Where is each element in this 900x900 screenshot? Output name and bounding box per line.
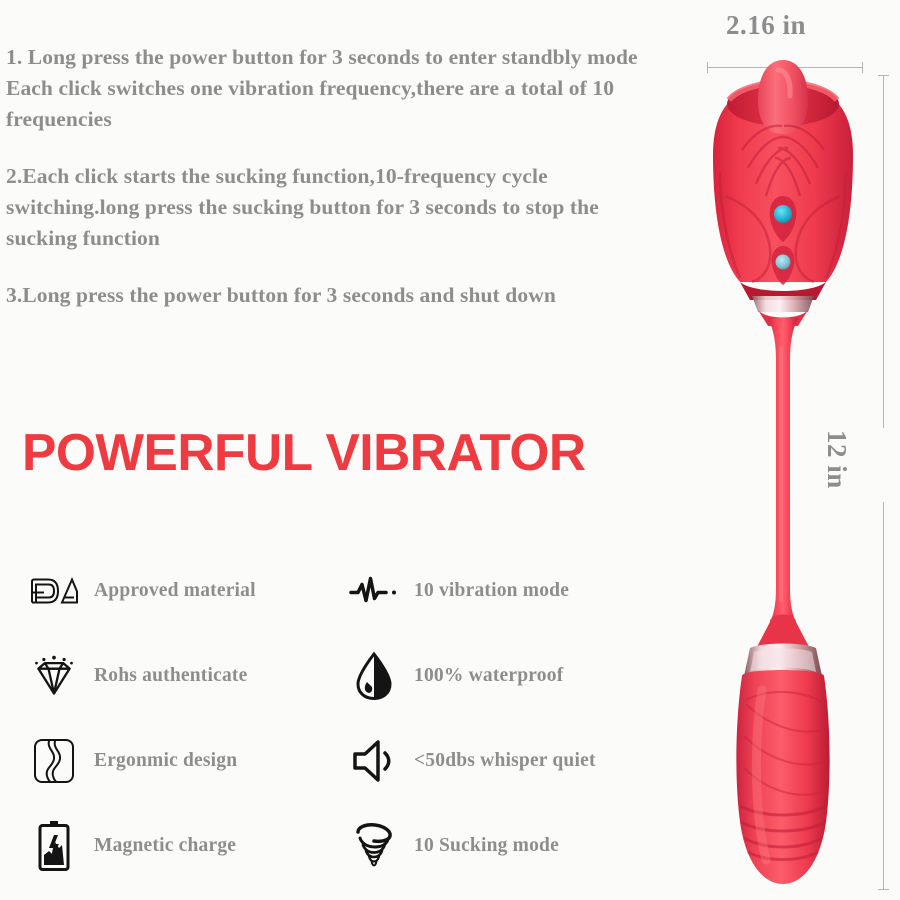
product-image bbox=[666, 0, 900, 900]
feature-item-whisper-quiet: <50dbs whisper quiet bbox=[348, 718, 648, 803]
caliper-tick-top bbox=[878, 75, 889, 76]
feature-label: 100% waterproof bbox=[414, 665, 563, 687]
infographic-canvas: 1. Long press the power button for 3 sec… bbox=[0, 0, 900, 900]
sucking-button bbox=[776, 255, 791, 270]
instruction-paragraph-1: 1. Long press the power button for 3 sec… bbox=[6, 42, 666, 135]
speaker-icon bbox=[348, 735, 400, 787]
instruction-paragraph-3: 3.Long press the power button for 3 seco… bbox=[6, 280, 666, 311]
feature-label: Magnetic charge bbox=[94, 835, 236, 857]
feature-item-sucking-mode: 10 Sucking mode bbox=[348, 803, 648, 888]
product-area: 2.16 in bbox=[666, 0, 900, 900]
feature-label: Ergonmic design bbox=[94, 750, 237, 772]
diamond-icon bbox=[28, 650, 80, 702]
headline-title: POWERFUL VIBRATOR bbox=[22, 424, 586, 482]
feature-item-ergonomic-design: Ergonmic design bbox=[28, 718, 328, 803]
feature-item-approved-material: Approved material bbox=[28, 548, 328, 633]
feature-item-vibration-mode: 10 vibration mode bbox=[348, 548, 648, 633]
power-button bbox=[774, 205, 792, 223]
bud-collar bbox=[752, 296, 814, 312]
waveform-icon bbox=[348, 565, 400, 617]
height-dimension-label: 12 in bbox=[821, 430, 852, 489]
feature-grid: Approved material 10 vibration mode bbox=[28, 548, 648, 888]
ergonomic-icon bbox=[28, 735, 80, 787]
feature-item-magnetic-charge: Magnetic charge bbox=[28, 803, 328, 888]
vortex-icon bbox=[348, 820, 400, 872]
instructions-block: 1. Long press the power button for 3 sec… bbox=[6, 42, 666, 311]
feature-label: Rohs authenticate bbox=[94, 665, 247, 687]
instruction-paragraph-2: 2.Each click starts the sucking function… bbox=[6, 161, 666, 254]
feature-label: 10 vibration mode bbox=[414, 580, 569, 602]
water-drop-icon bbox=[348, 650, 400, 702]
feature-label: Approved material bbox=[94, 580, 256, 602]
caliper-tick-bottom bbox=[878, 889, 889, 890]
feature-item-waterproof: 100% waterproof bbox=[348, 633, 648, 718]
caliper-label-mask bbox=[874, 428, 888, 502]
fda-icon bbox=[28, 565, 80, 617]
feature-item-rohs-authenticate: Rohs authenticate bbox=[28, 633, 328, 718]
battery-icon bbox=[28, 820, 80, 872]
feature-label: <50dbs whisper quiet bbox=[414, 750, 596, 772]
feature-label: 10 Sucking mode bbox=[414, 835, 559, 857]
